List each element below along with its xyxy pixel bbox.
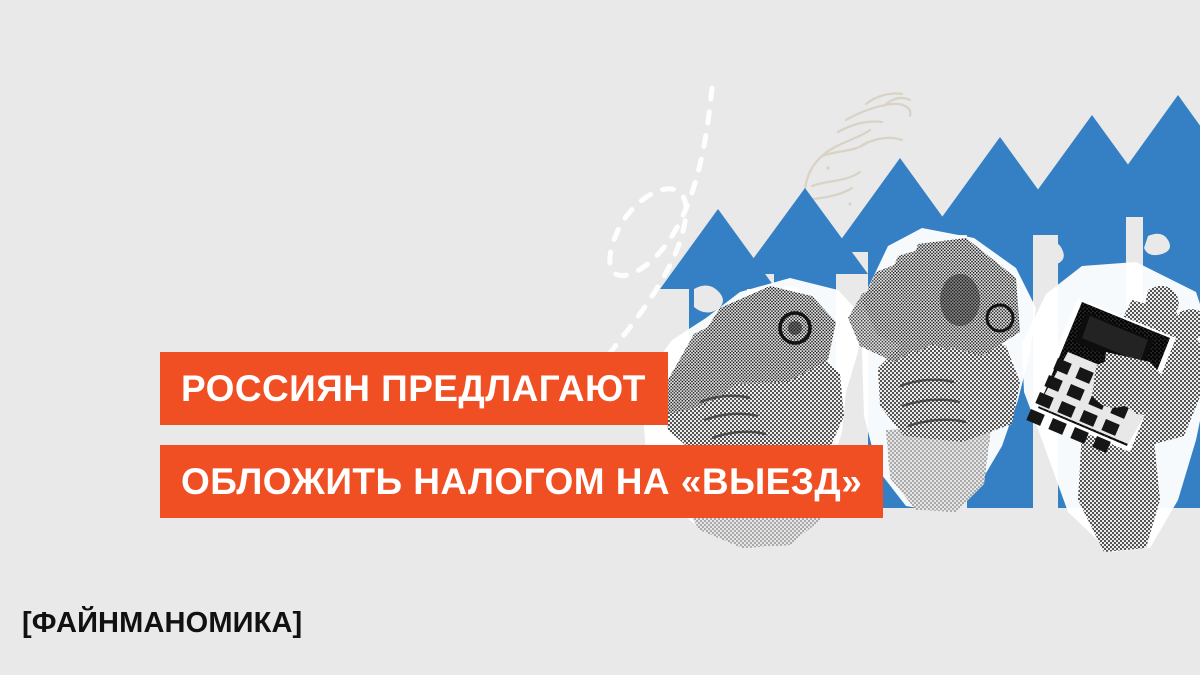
headline-banner-line-2: ОБЛОЖИТЬ НАЛОГОМ НА «ВЫЕЗД»	[160, 445, 883, 518]
headline-banner-line-1: РОССИЯН ПРЕДЛАГАЮТ	[160, 352, 668, 425]
collage-artwork	[0, 0, 1200, 675]
poster-canvas: РОССИЯН ПРЕДЛАГАЮТ ОБЛОЖИТЬ НАЛОГОМ НА «…	[0, 0, 1200, 675]
brand-wordmark: [ФАЙНМАНОМИКА]	[22, 609, 302, 638]
headline-text-line-1: РОССИЯН ПРЕДЛАГАЮТ	[181, 370, 646, 407]
headline-text-line-2: ОБЛОЖИТЬ НАЛОГОМ НА «ВЫЕЗД»	[181, 463, 862, 500]
